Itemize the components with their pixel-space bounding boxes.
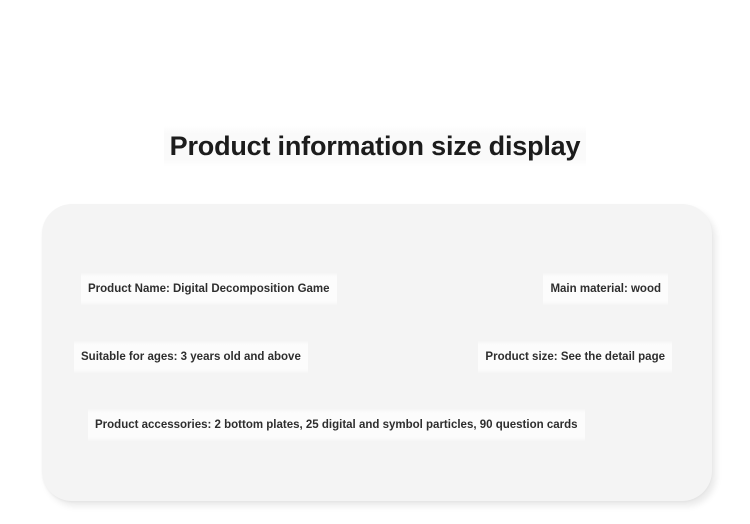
main-material-field: Main material: wood [543,272,668,306]
product-accessories-field: Product accessories: 2 bottom plates, 25… [88,408,585,442]
info-row: Suitable for ages: 3 years old and above… [42,340,712,374]
page-title-container: Product information size display [0,108,750,185]
product-size-field: Product size: See the detail page [478,340,672,374]
suitable-ages-field: Suitable for ages: 3 years old and above [74,340,308,374]
info-row: Product Name: Digital Decomposition Game… [42,272,712,306]
product-name-field: Product Name: Digital Decomposition Game [81,272,337,306]
product-info-card: Product Name: Digital Decomposition Game… [42,204,712,501]
info-row: Product accessories: 2 bottom plates, 25… [42,408,712,442]
page-title: Product information size display [164,126,587,166]
info-rows: Product Name: Digital Decomposition Game… [42,204,712,501]
product-info-page: Product information size display Product… [0,0,750,524]
